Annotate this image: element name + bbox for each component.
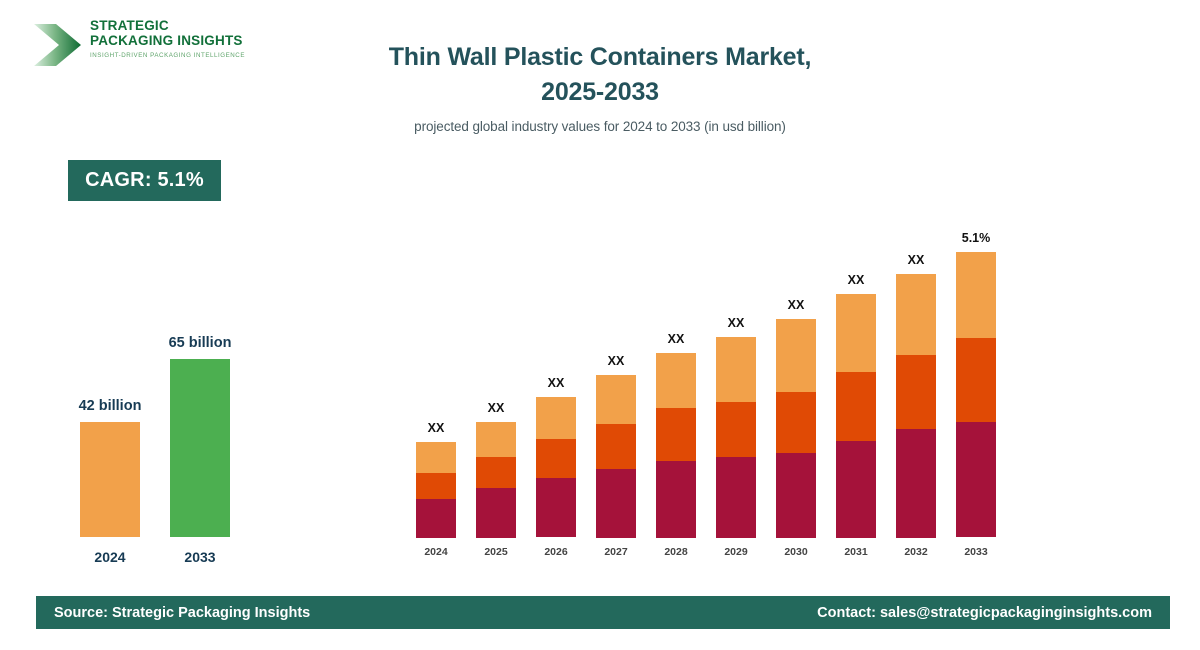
stacked-bar-value-label: XX xyxy=(596,354,636,368)
stacked-bar xyxy=(716,337,756,538)
stacked-bar xyxy=(656,353,696,538)
stacked-bar-segment xyxy=(836,294,876,372)
stacked-bar-year-label: 2026 xyxy=(536,546,576,558)
stacked-bar-segment xyxy=(536,439,576,478)
stacked-bar-segment xyxy=(716,457,756,538)
stacked-bar xyxy=(476,422,516,538)
stacked-bar xyxy=(416,442,456,538)
stacked-bar-segment xyxy=(656,353,696,408)
stacked-bar-value-label: XX xyxy=(656,332,696,346)
comparison-bar xyxy=(170,359,230,537)
stacked-bar-group: XX2031 xyxy=(836,217,876,560)
stacked-bar xyxy=(956,252,996,538)
comparison-bar-year-label: 2033 xyxy=(170,549,230,565)
stacked-bar-year-label: 2033 xyxy=(956,546,996,558)
stacked-bar-year-label: 2030 xyxy=(776,546,816,558)
stacked-bar-chart: XX2024XX2025XX2026XX2027XX2028XX2029XX20… xyxy=(400,195,1020,560)
stacked-bar-value-label: XX xyxy=(836,273,876,287)
stacked-bar-value-label: 5.1% xyxy=(956,231,996,245)
stacked-bar-segment xyxy=(416,499,456,538)
stacked-bar xyxy=(836,294,876,538)
stacked-bar-segment xyxy=(956,338,996,422)
comparison-bar-value-label: 65 billion xyxy=(140,335,260,351)
stacked-bar-group: XX2032 xyxy=(896,217,936,560)
stacked-bar-segment xyxy=(776,453,816,538)
stacked-bar-year-label: 2024 xyxy=(416,546,456,558)
stacked-bar-segment xyxy=(476,422,516,457)
stacked-bar-group: XX2024 xyxy=(416,217,456,560)
stacked-bar-value-label: XX xyxy=(896,253,936,267)
stacked-bar xyxy=(536,397,576,538)
stacked-bar-year-label: 2032 xyxy=(896,546,936,558)
stacked-bar-value-label: XX xyxy=(416,421,456,435)
brand-wordmark: STRATEGIC PACKAGING INSIGHTS INSIGHT-DRI… xyxy=(90,18,255,59)
stacked-bar-year-label: 2028 xyxy=(656,546,696,558)
comparison-bar-value-label: 42 billion xyxy=(50,398,170,414)
stacked-bar-value-label: XX xyxy=(776,298,816,312)
stacked-bar-segment xyxy=(776,392,816,453)
stacked-bar-segment xyxy=(476,488,516,538)
stacked-bar-segment xyxy=(896,274,936,355)
stacked-bar-segment xyxy=(596,424,636,469)
stacked-bar-group: XX2027 xyxy=(596,217,636,560)
stacked-bar-segment xyxy=(476,457,516,488)
stacked-bar-segment xyxy=(896,355,936,429)
stacked-bar-segment xyxy=(536,478,576,537)
stacked-bar-group: XX2029 xyxy=(716,217,756,560)
stacked-bar-segment xyxy=(596,469,636,538)
stacked-bar-segment xyxy=(836,441,876,538)
stacked-bar-segment xyxy=(956,252,996,338)
page-subtitle: projected global industry values for 202… xyxy=(300,119,900,134)
infographic-canvas: STRATEGIC PACKAGING INSIGHTS INSIGHT-DRI… xyxy=(0,0,1200,650)
stacked-bar xyxy=(776,319,816,538)
comparison-bar xyxy=(80,422,140,537)
stacked-bar-segment xyxy=(956,422,996,537)
comparison-bar-chart: 42 billion202465 billion2033 xyxy=(40,300,290,570)
stacked-bar-segment xyxy=(596,375,636,424)
title-block: Thin Wall Plastic Containers Market, 202… xyxy=(300,40,900,134)
stacked-bar-segment xyxy=(716,337,756,402)
stacked-bar-group: XX2026 xyxy=(536,217,576,560)
stacked-bar-segment xyxy=(416,442,456,473)
stacked-bar xyxy=(596,375,636,538)
brand-name-line2: PACKAGING INSIGHTS xyxy=(90,33,255,48)
cagr-badge: CAGR: 5.1% xyxy=(68,160,221,201)
stacked-bar xyxy=(896,274,936,538)
stacked-bar-value-label: XX xyxy=(476,401,516,415)
brand-tagline: INSIGHT-DRIVEN PACKAGING INTELLIGENCE xyxy=(90,52,255,59)
stacked-bar-segment xyxy=(656,461,696,538)
stacked-bar-segment xyxy=(836,372,876,441)
footer-source: Source: Strategic Packaging Insights xyxy=(54,605,310,621)
stacked-bar-year-label: 2031 xyxy=(836,546,876,558)
stacked-bar-segment xyxy=(776,319,816,392)
stacked-bar-segment xyxy=(656,408,696,461)
brand-logo: STRATEGIC PACKAGING INSIGHTS INSIGHT-DRI… xyxy=(32,18,252,76)
footer-bar: Source: Strategic Packaging Insights Con… xyxy=(36,596,1170,629)
page-title-line1: Thin Wall Plastic Containers Market, xyxy=(300,40,900,75)
stacked-bar-segment xyxy=(896,429,936,538)
brand-name-line1: STRATEGIC xyxy=(90,18,255,33)
stacked-bar-group: 5.1%2033 xyxy=(956,217,996,560)
footer-contact[interactable]: Contact: sales@strategicpackaginginsight… xyxy=(817,605,1152,621)
stacked-bar-year-label: 2029 xyxy=(716,546,756,558)
stacked-bar-group: XX2030 xyxy=(776,217,816,560)
stacked-bar-group: XX2025 xyxy=(476,217,516,560)
comparison-bar-year-label: 2024 xyxy=(80,549,140,565)
stacked-bar-group: XX2028 xyxy=(656,217,696,560)
stacked-bar-year-label: 2025 xyxy=(476,546,516,558)
stacked-bar-segment xyxy=(536,397,576,439)
stacked-bar-segment xyxy=(716,402,756,457)
page-title-line2: 2025-2033 xyxy=(300,75,900,110)
chevron-arrow-icon xyxy=(32,20,84,70)
stacked-bar-value-label: XX xyxy=(536,376,576,390)
stacked-bar-value-label: XX xyxy=(716,316,756,330)
stacked-bar-year-label: 2027 xyxy=(596,546,636,558)
stacked-bar-segment xyxy=(416,473,456,499)
